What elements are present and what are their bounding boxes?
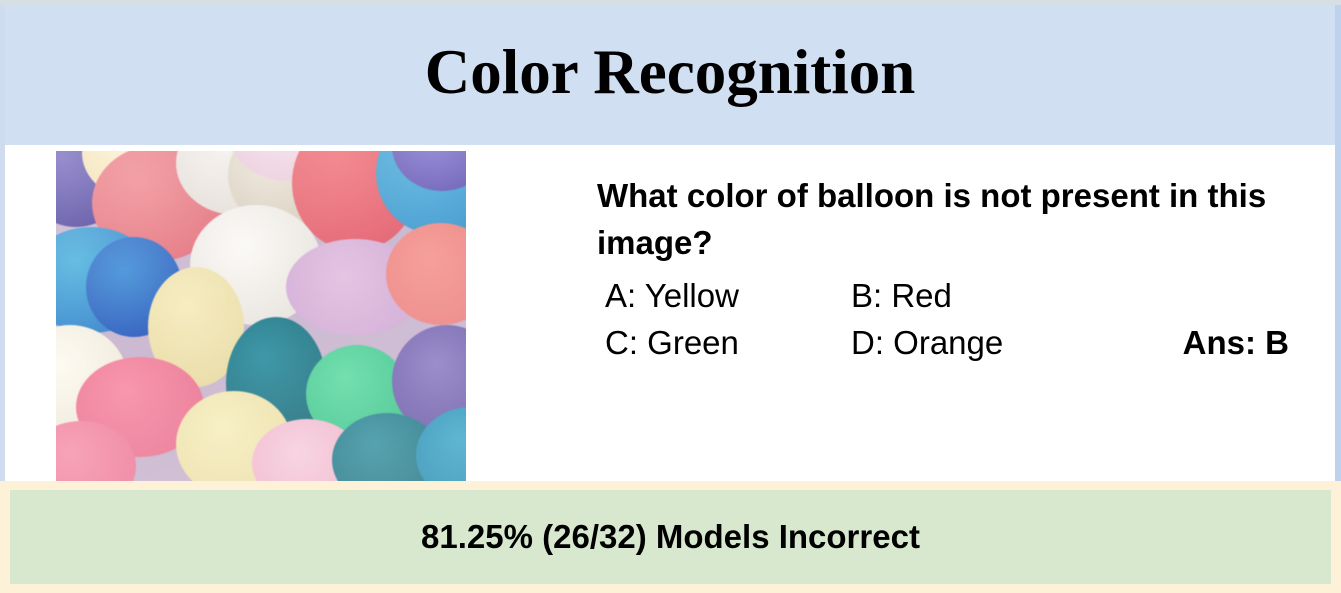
question-slide: Color Recognition <box>0 0 1341 593</box>
content-area: What color of balloon is not present in … <box>5 145 1335 482</box>
models-incorrect-stat: 81.25% (26/32) Models Incorrect <box>421 518 920 556</box>
image-canvas <box>56 151 466 482</box>
footer-banner: 81.25% (26/32) Models Incorrect <box>10 490 1331 584</box>
options-list: A: Yellow B: Red C: Green D: Orange Ans:… <box>597 273 1297 367</box>
page-title: Color Recognition <box>425 41 916 110</box>
footer-frame: 81.25% (26/32) Models Incorrect <box>0 481 1341 593</box>
options-row-1: A: Yellow B: Red <box>597 273 1297 320</box>
options-row-2: C: Green D: Orange Ans: B <box>597 320 1297 367</box>
option-d[interactable]: D: Orange <box>851 320 1003 367</box>
answer-label: Ans: B <box>1183 320 1289 367</box>
jellybeans-image <box>56 151 466 482</box>
option-b[interactable]: B: Red <box>851 273 952 320</box>
question-block: What color of balloon is not present in … <box>597 173 1297 367</box>
header-banner: Color Recognition <box>5 5 1335 145</box>
question-text: What color of balloon is not present in … <box>597 173 1287 267</box>
option-a[interactable]: A: Yellow <box>605 273 739 320</box>
option-c[interactable]: C: Green <box>605 320 739 367</box>
right-edge-strip <box>1335 5 1341 482</box>
